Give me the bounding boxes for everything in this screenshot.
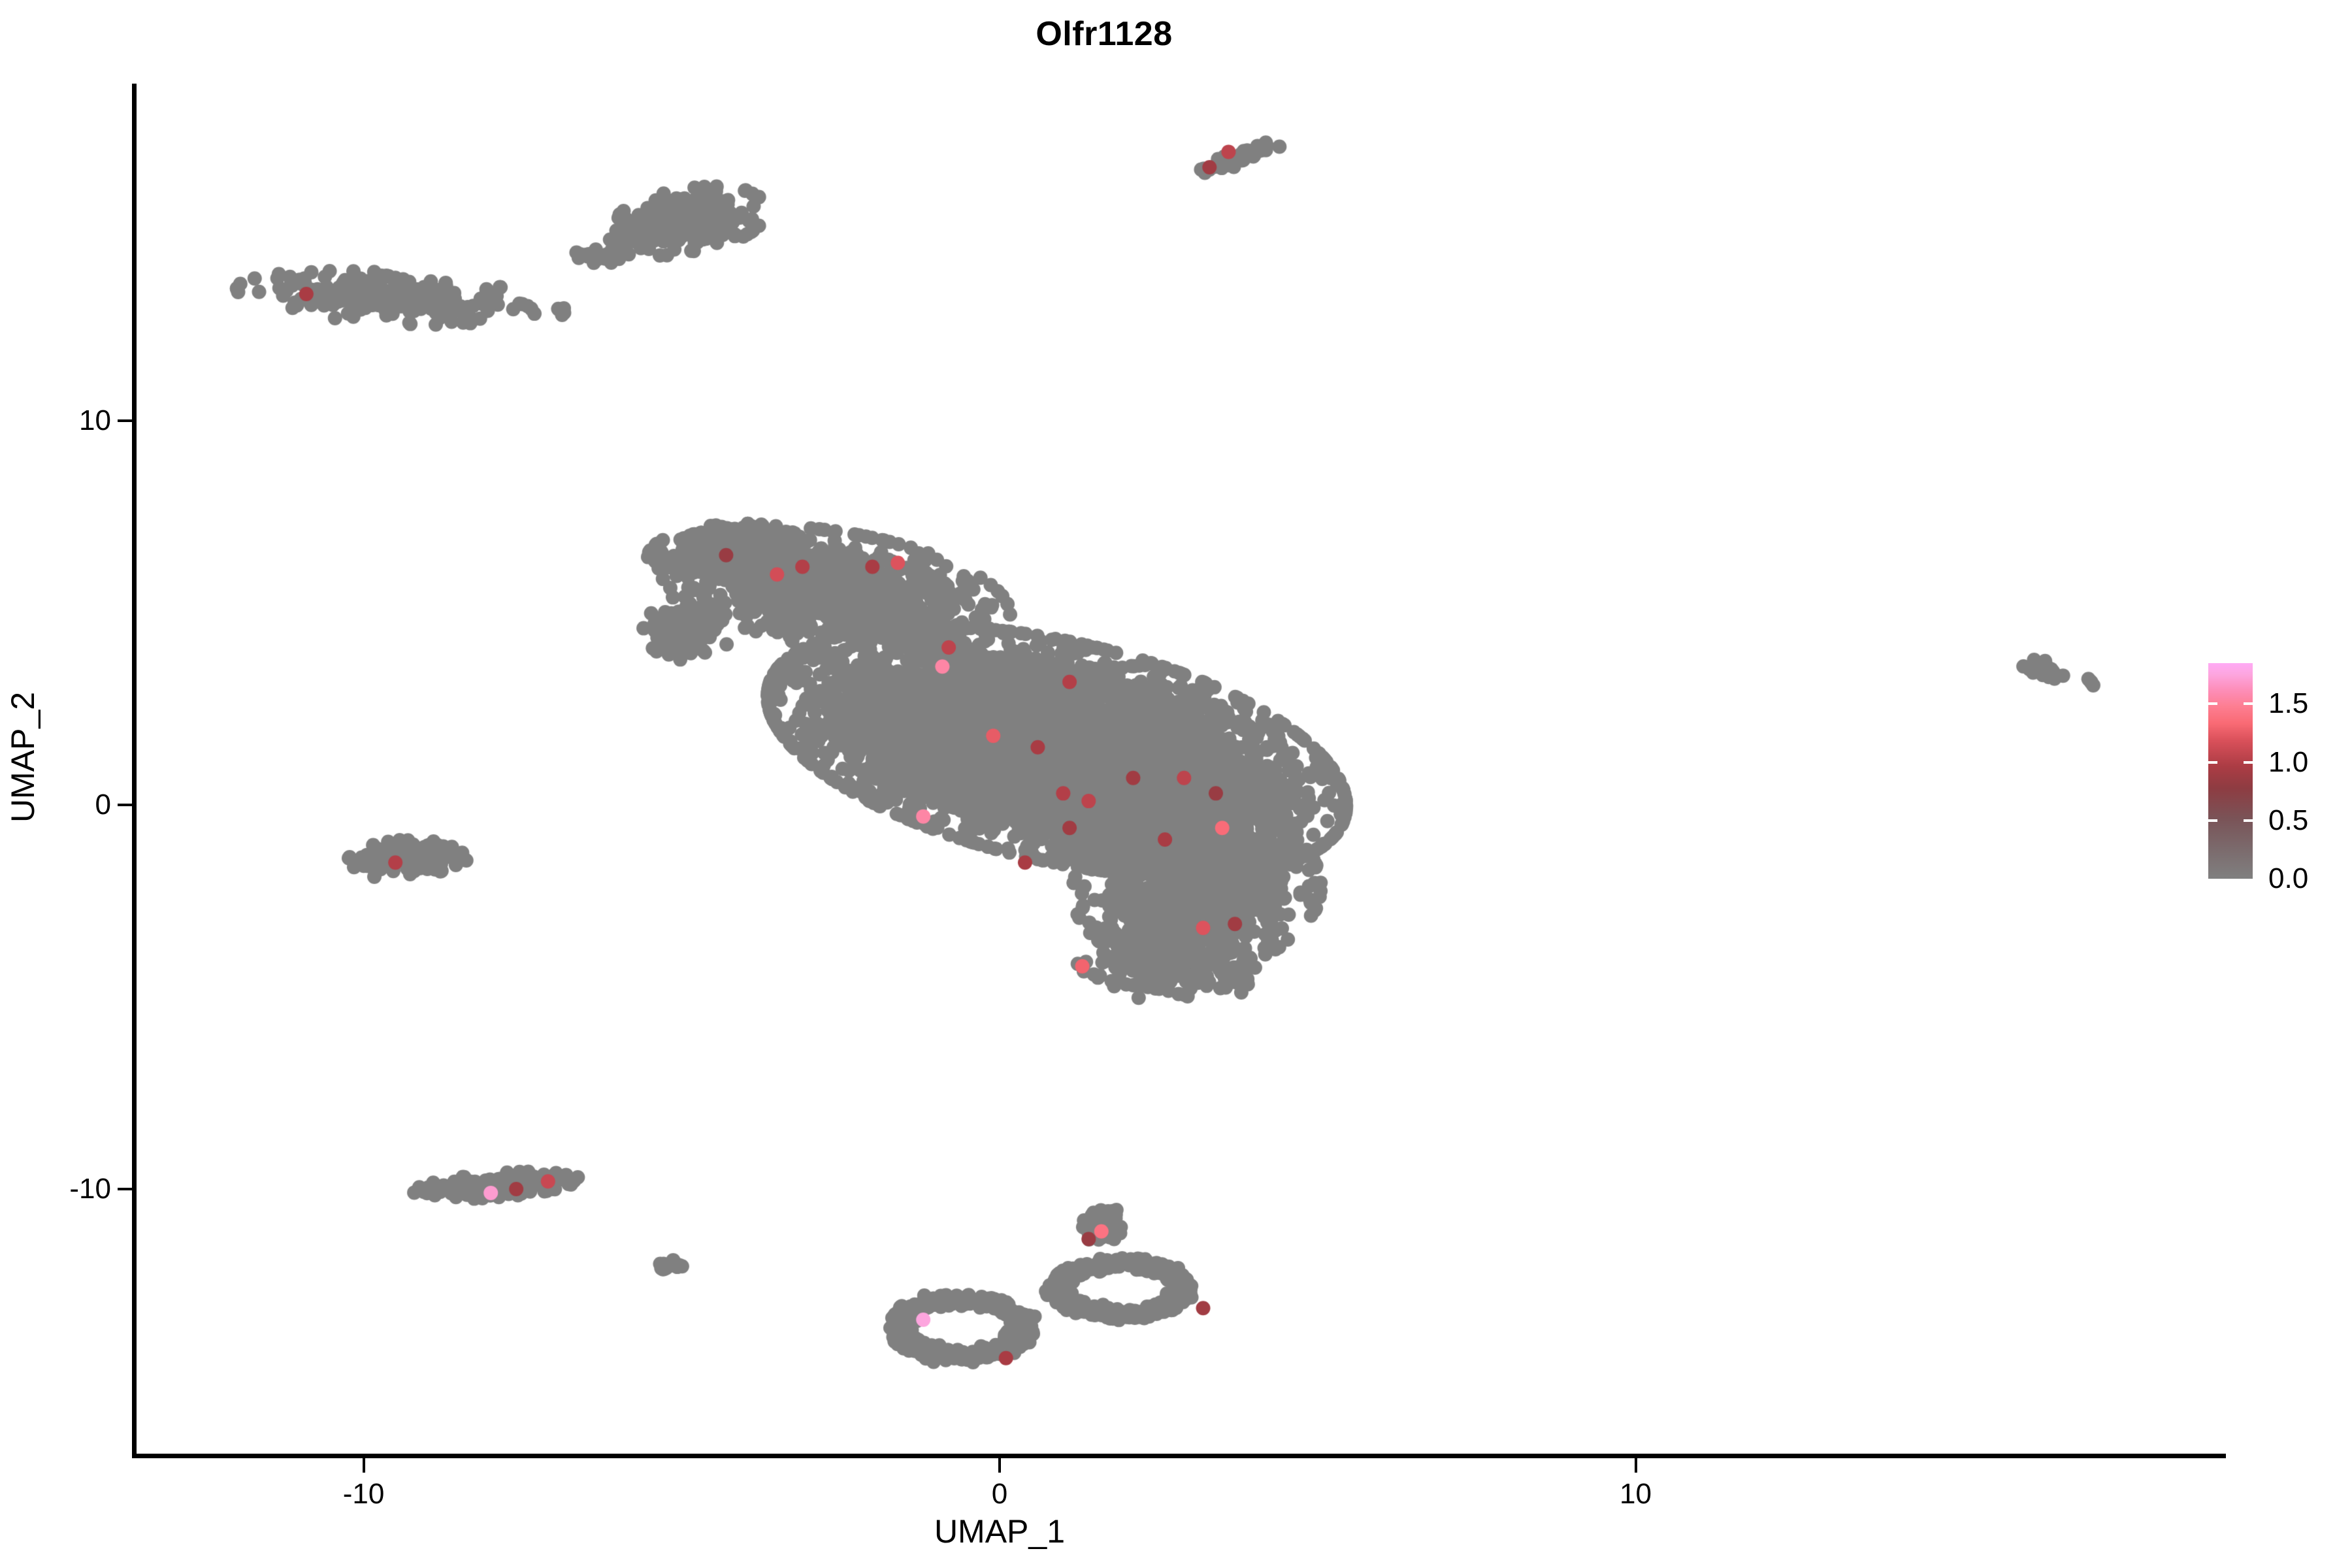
legend-tick-label: 0.0 (2268, 862, 2308, 895)
x-axis-title: UMAP_1 (653, 1512, 1346, 1550)
plot-panel (134, 85, 2215, 1457)
legend-tick-mark (2208, 702, 2217, 705)
y-tick-label: 10 (20, 404, 111, 437)
scatter-canvas (134, 85, 2215, 1457)
y-tick-mark (118, 804, 132, 806)
y-tick-mark (118, 1188, 132, 1190)
x-tick-mark (363, 1458, 365, 1473)
y-tick-label: -10 (20, 1173, 111, 1205)
legend-tick-mark (2208, 761, 2217, 764)
legend-tick-mark (2244, 761, 2253, 764)
page-title: Olfr1128 (0, 14, 2208, 54)
color-legend: 1.51.00.50.0 (2208, 663, 2345, 892)
x-axis-line (132, 1454, 2226, 1458)
x-tick-label: -10 (312, 1478, 416, 1511)
x-tick-mark (998, 1458, 1001, 1473)
legend-tick-mark (2244, 702, 2253, 705)
y-axis-line (132, 84, 137, 1458)
legend-tick-label: 1.0 (2268, 746, 2308, 779)
legend-tick-mark (2208, 819, 2217, 822)
y-axis-title: UMAP_2 (4, 594, 42, 921)
umap-feature-plot: Olfr1128 100-10 -10010 UMAP_1 UMAP_2 1.5… (0, 0, 2352, 1568)
legend-tick-label: 1.5 (2268, 687, 2308, 720)
y-tick-mark (118, 419, 132, 422)
x-tick-label: 10 (1584, 1478, 1688, 1511)
legend-colorbar (2208, 663, 2253, 879)
legend-tick-mark (2244, 819, 2253, 822)
legend-tick-label: 0.5 (2268, 804, 2308, 837)
x-tick-mark (1635, 1458, 1637, 1473)
x-tick-label: 0 (947, 1478, 1052, 1511)
